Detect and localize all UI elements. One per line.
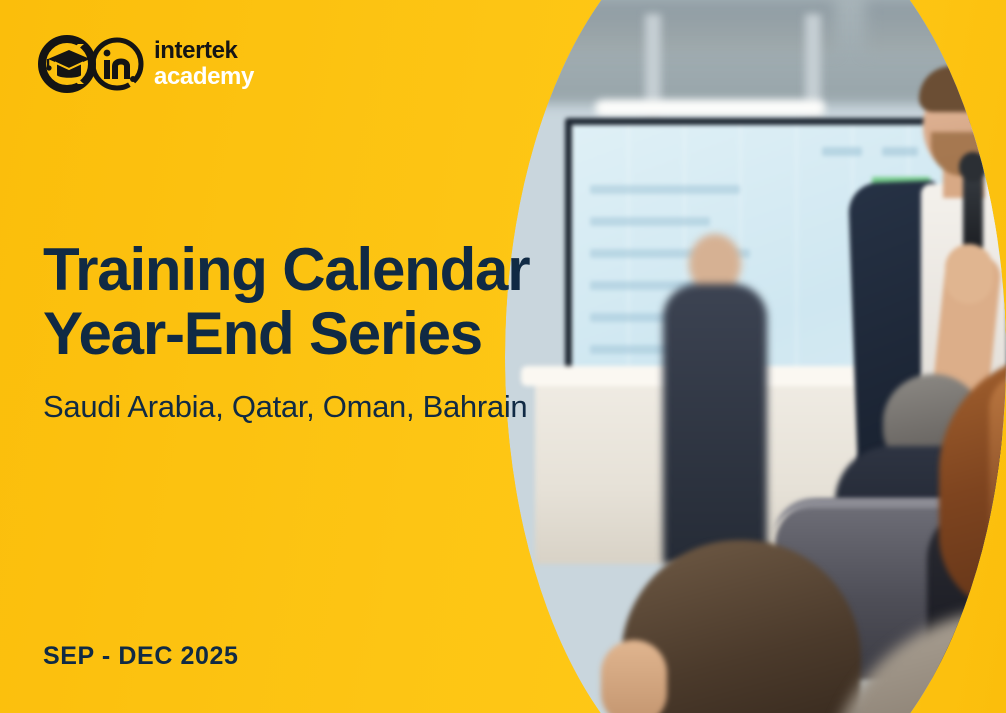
ceiling-panel [865, 0, 1006, 52]
screen-row-label [590, 217, 710, 226]
ceiling-panel [535, 0, 835, 52]
presenter-hair [919, 66, 1005, 112]
microphone-head [959, 152, 987, 182]
ceiling-light [975, 54, 1006, 66]
logo-wordmark: intertek academy [154, 39, 254, 89]
audience-member-foreground [825, 610, 1006, 713]
intertek-academy-logo-icon [38, 35, 150, 93]
screen-row-label [590, 185, 740, 194]
audience-head [825, 610, 1006, 713]
hero-photo-image [505, 0, 1006, 713]
audience-ear [601, 640, 667, 713]
cover-page: intertek academy Training Calendar Year-… [0, 0, 1006, 713]
page-subtitle: Saudi Arabia, Qatar, Oman, Bahrain [43, 389, 527, 425]
screen-column-label [998, 147, 1006, 156]
logo: intertek academy [38, 33, 268, 95]
attendee-body [663, 284, 767, 564]
hero-photo [505, 0, 1006, 713]
logo-line-academy: academy [154, 65, 254, 89]
date-range: SEP - DEC 2025 [43, 642, 239, 671]
gantt-bar [1002, 463, 1006, 487]
ceiling-light [595, 100, 825, 116]
logo-line-intertek: intertek [154, 39, 254, 63]
standing-attendee [655, 234, 775, 564]
audience-hair-highlight [989, 374, 1006, 584]
page-title: Training Calendar Year-End Series [43, 238, 529, 365]
presenter-hand [945, 244, 993, 304]
